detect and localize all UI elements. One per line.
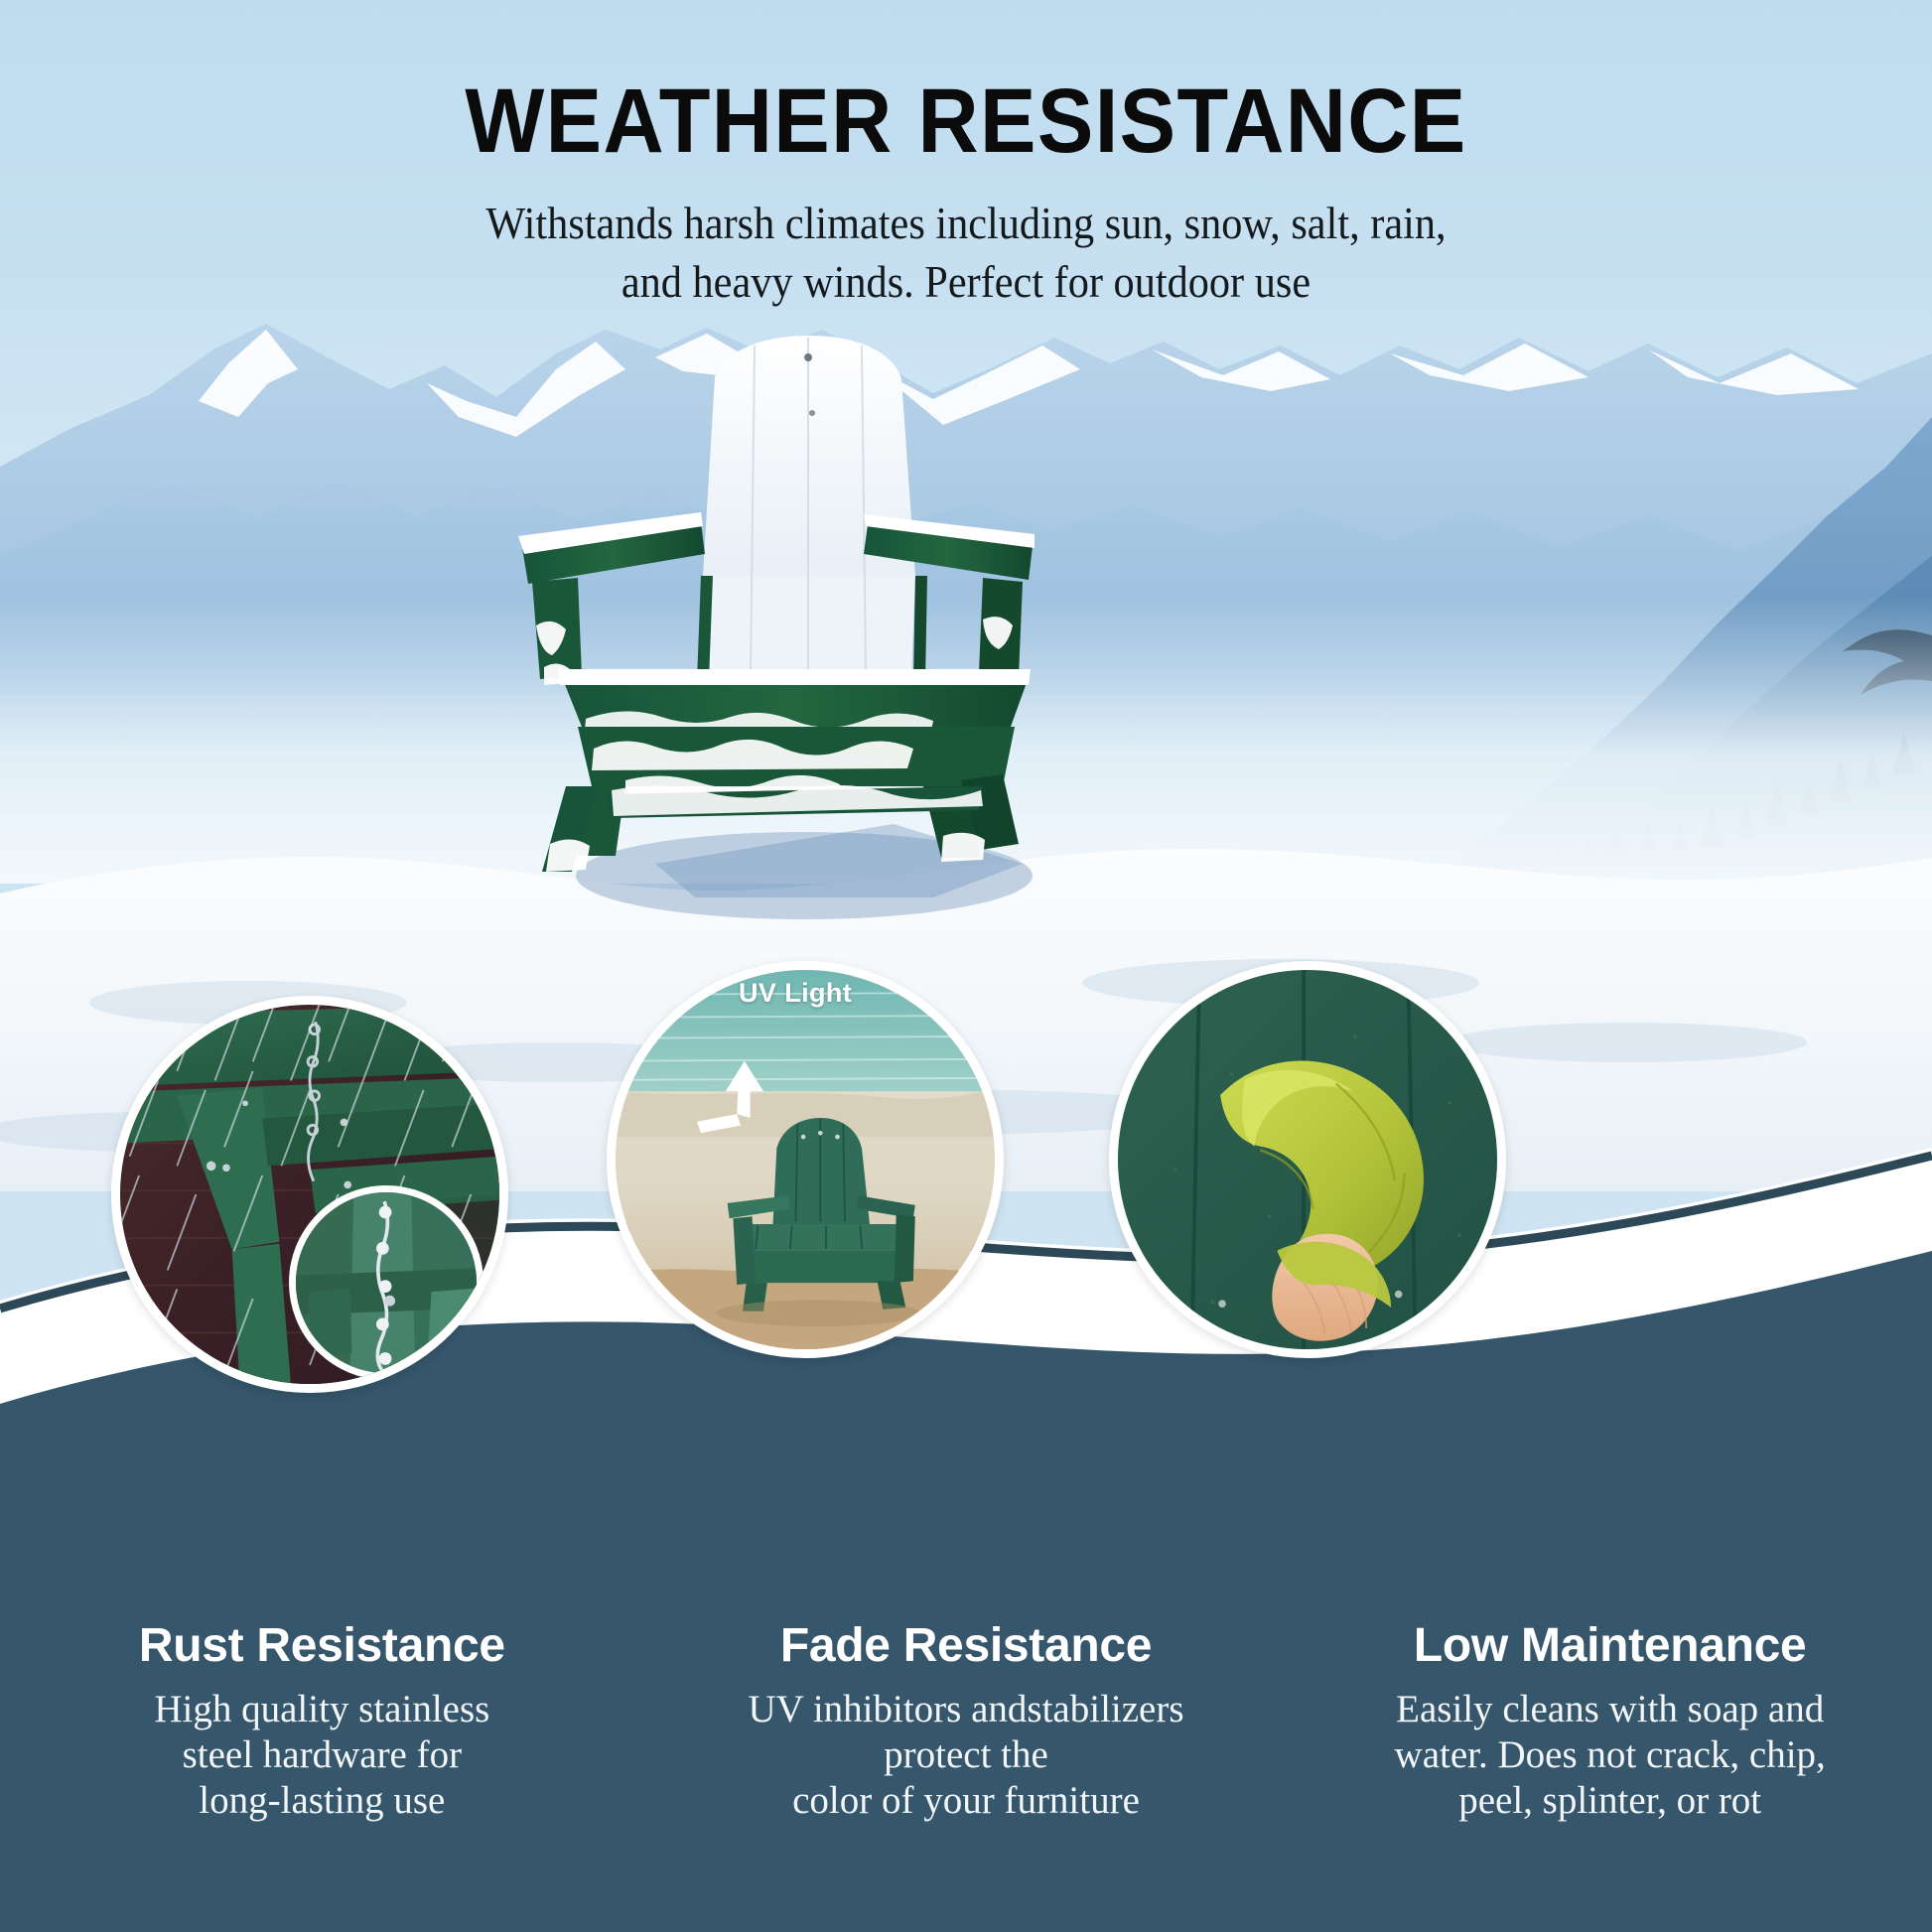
card-body-line: Easily cleans with soap and [1317,1687,1902,1732]
card-title: Rust Resistance [30,1620,615,1673]
low-maintenance-photo [1118,970,1497,1349]
card-body: High quality stainless steel hardware fo… [30,1687,615,1824]
card-body-line: water. Does not crack, chip, [1317,1732,1902,1778]
card-body-line: protect the [674,1732,1259,1778]
feature-card-fade-resistance: Fade Resistance UV inhibitors andstabili… [644,1620,1289,1824]
card-body-line: peel, splinter, or rot [1317,1778,1902,1824]
feature-card-low-maintenance: Low Maintenance Easily cleans with soap … [1288,1620,1932,1824]
circle-low-maintenance [1109,961,1506,1358]
feature-cards: Rust Resistance High quality stainless s… [0,1620,1932,1824]
card-body-line: High quality stainless [30,1687,615,1732]
card-body-line: long-lasting use [30,1778,615,1824]
card-body: Easily cleans with soap and water. Does … [1317,1687,1902,1824]
circle-rust-resistance [111,996,508,1393]
circle-fade-resistance: UV Light [607,961,1004,1358]
fade-resistance-photo [616,970,995,1349]
card-title: Fade Resistance [674,1620,1259,1673]
uv-light-label: UV Light [739,978,852,1009]
card-body-line: UV inhibitors andstabilizers [674,1687,1259,1732]
chain-closeup-inset [289,1185,483,1380]
feature-card-rust-resistance: Rust Resistance High quality stainless s… [0,1620,644,1824]
marketing-image: UV Light [0,0,1932,1932]
card-title: Low Maintenance [1317,1620,1902,1673]
card-body-line: steel hardware for [30,1732,615,1778]
card-body-line: color of your furniture [674,1778,1259,1824]
card-body: UV inhibitors andstabilizers protect the… [674,1687,1259,1824]
